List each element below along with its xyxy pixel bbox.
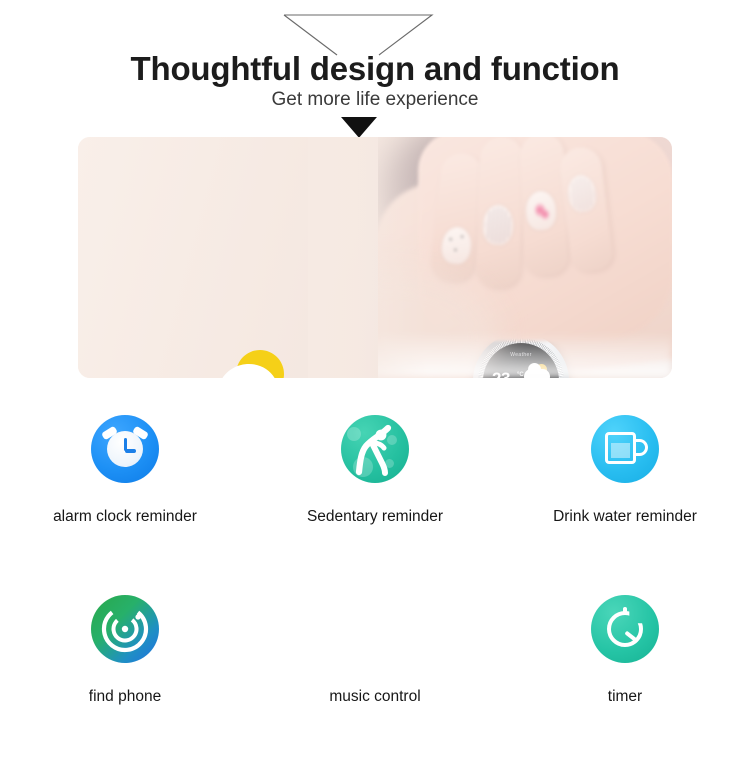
feature-music-control[interactable]: music control <box>250 595 500 765</box>
radar-glyph <box>91 595 159 663</box>
feature-alarm-clock-reminder[interactable]: alarm clock reminder <box>0 415 250 585</box>
person-glyph <box>341 415 409 483</box>
stretching-person-icon[interactable] <box>341 415 409 483</box>
feature-label: Sedentary reminder <box>307 508 443 526</box>
feature-label: music control <box>329 688 420 706</box>
page-subtitle: Get more life experience <box>0 88 750 112</box>
feature-find-phone[interactable]: find phone <box>0 595 250 765</box>
banner-photo-fade <box>308 137 428 378</box>
eighth-notes-glyph <box>341 595 409 663</box>
music-note-icon[interactable] <box>341 595 409 663</box>
alarm-clock-icon[interactable] <box>91 415 159 483</box>
banner-background: Weather 23 °C Cloudy Tue 7/23 <box>78 137 672 378</box>
feature-row: alarm clock reminder Sedentary reminder <box>0 415 750 585</box>
feature-sedentary-reminder[interactable]: Sedentary reminder <box>250 415 500 585</box>
water-mug-icon[interactable] <box>591 415 659 483</box>
fingernail <box>482 204 513 245</box>
weather-forecast-banner: Weather 23 °C Cloudy Tue 7/23 <box>78 137 672 378</box>
header-section: Thoughtful design and function Get more … <box>0 0 750 137</box>
fingernail <box>525 190 556 230</box>
solid-down-caret-icon <box>340 117 378 139</box>
feature-timer[interactable]: timer <box>500 595 750 765</box>
feature-label: timer <box>608 688 642 706</box>
feature-drink-water-reminder[interactable]: Drink water reminder <box>500 415 750 585</box>
features-section: alarm clock reminder Sedentary reminder <box>0 415 750 750</box>
stopwatch-timer-icon[interactable] <box>591 595 659 663</box>
page-title: Thoughtful design and function <box>0 50 750 88</box>
sun-behind-cloud-icon <box>196 340 296 378</box>
feature-label: Drink water reminder <box>553 508 697 526</box>
radar-find-phone-icon[interactable] <box>91 595 159 663</box>
feature-label: find phone <box>89 688 161 706</box>
feature-label: alarm clock reminder <box>53 508 197 526</box>
feature-row: find phone music control timer <box>0 595 750 765</box>
